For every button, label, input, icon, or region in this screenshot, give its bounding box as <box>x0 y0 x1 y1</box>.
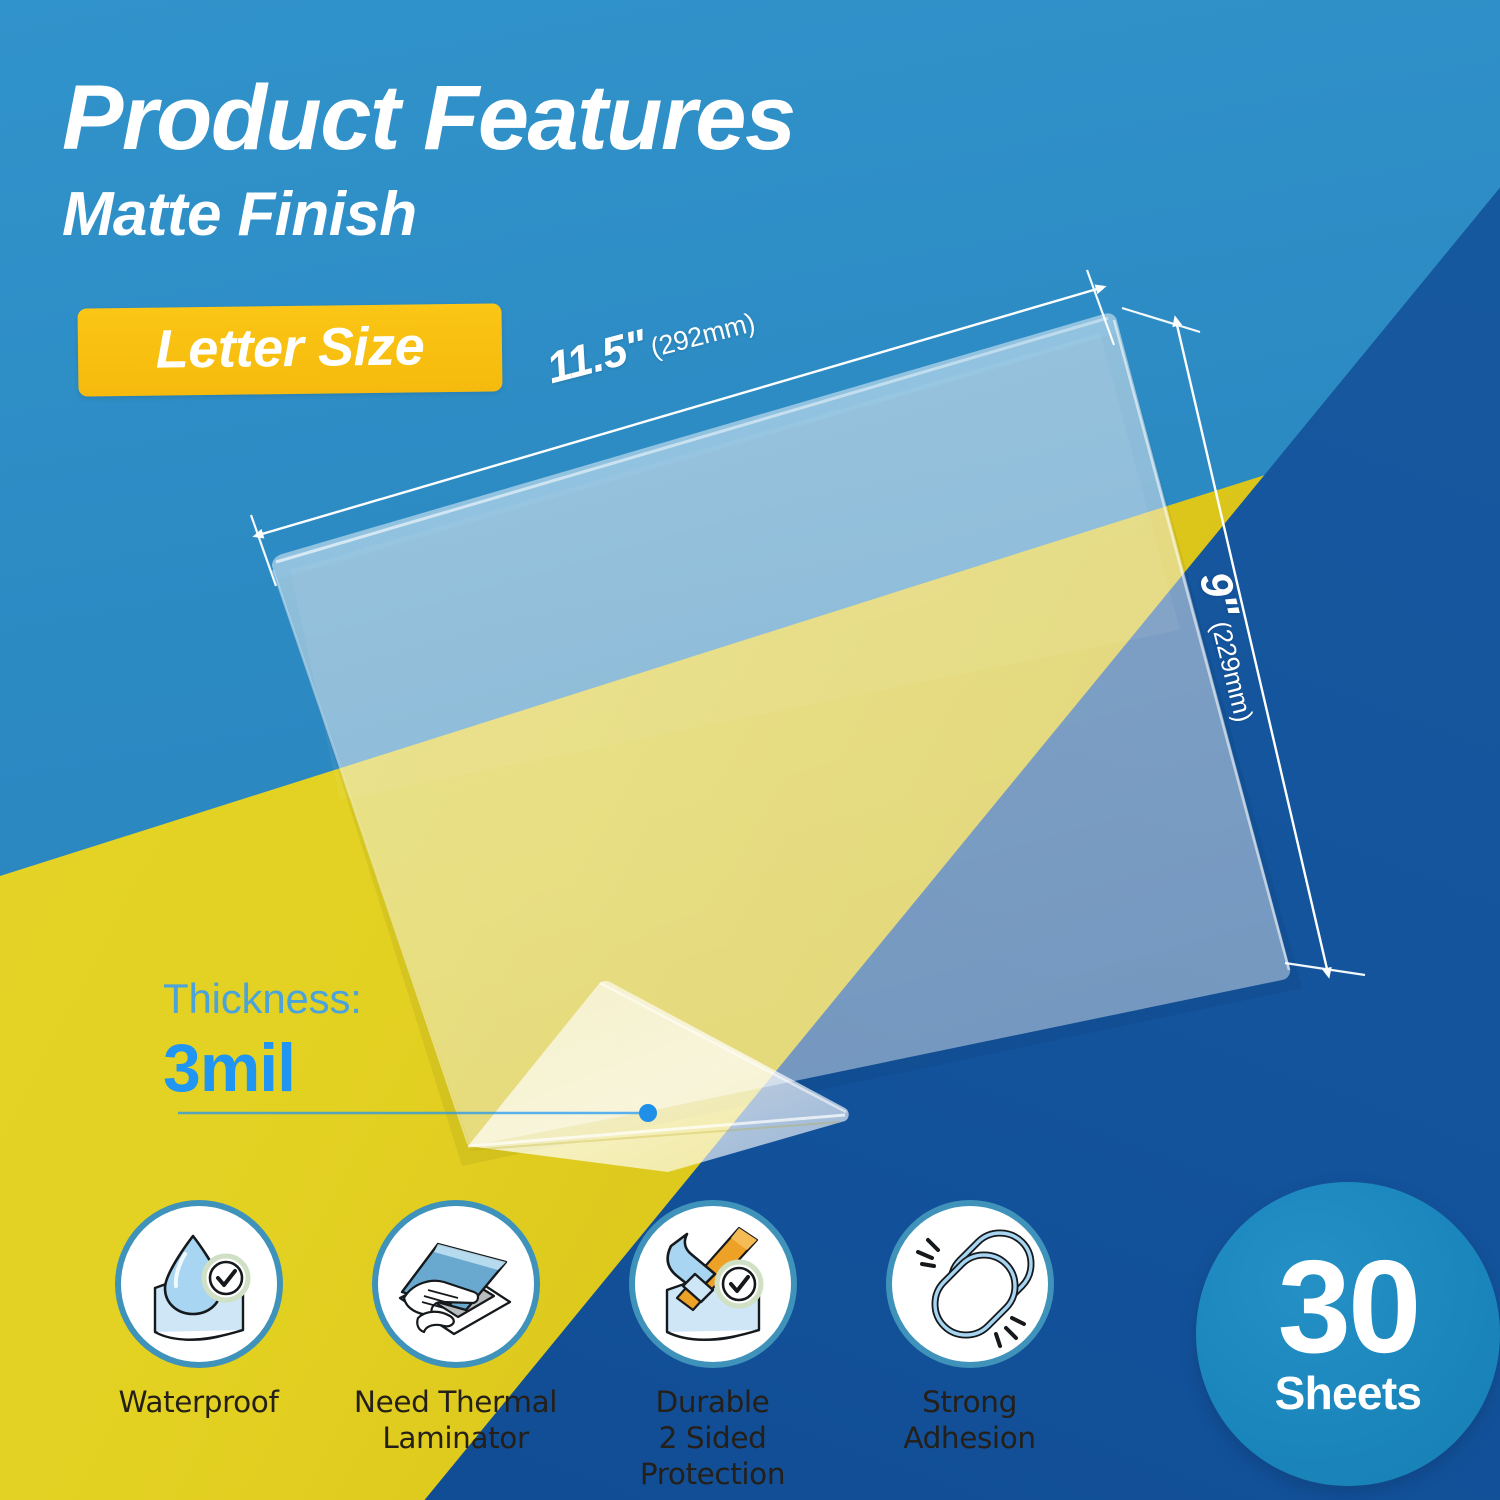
letter-size-badge-label: Letter Size <box>77 303 502 396</box>
feature-label-line: 2 Sided Protection <box>584 1421 841 1493</box>
width-extension-right <box>1087 270 1114 345</box>
feature-list: Waterproof <box>70 1200 1100 1493</box>
height-extension-top <box>1122 308 1200 332</box>
quantity-count: 30 <box>1278 1246 1419 1367</box>
feature-item-durable: Durable 2 Sided Protection <box>584 1200 841 1493</box>
feature-label-durable: Durable 2 Sided Protection <box>584 1385 841 1493</box>
quantity-unit: Sheets <box>1275 1370 1422 1416</box>
thickness-callout: Thickness: 3mil <box>163 978 362 1102</box>
durable-hammer-icon <box>629 1200 797 1368</box>
quantity-badge: 30 Sheets <box>1196 1182 1500 1486</box>
page-subtitle: Matte Finish <box>62 184 1082 246</box>
feature-label-line: Durable <box>584 1385 841 1421</box>
feature-label-line: Adhesion <box>903 1421 1035 1457</box>
thickness-label: Thickness: <box>163 978 362 1020</box>
feature-label-thermal-laminator: Need Thermal Laminator <box>354 1385 557 1457</box>
feature-item-thermal-laminator: Need Thermal Laminator <box>327 1200 584 1457</box>
feature-label-waterproof: Waterproof <box>119 1385 279 1421</box>
feature-label-strong-adhesion: Strong Adhesion <box>903 1385 1035 1457</box>
thermal-laminator-hands-icon <box>372 1200 540 1368</box>
feature-label-line: Laminator <box>354 1421 557 1457</box>
feature-label-line: Need Thermal <box>354 1385 557 1421</box>
width-extension-left <box>251 515 276 586</box>
waterproof-droplet-icon <box>115 1200 283 1368</box>
feature-item-waterproof: Waterproof <box>70 1200 327 1421</box>
thickness-pointer-dot <box>639 1104 657 1122</box>
product-features-infographic: Product Features Matte Finish Letter Siz… <box>0 0 1500 1500</box>
feature-item-strong-adhesion: Strong Adhesion <box>841 1200 1098 1457</box>
letter-size-badge: Letter Size <box>77 303 502 396</box>
feature-label-line: Strong <box>903 1385 1035 1421</box>
headline-block: Product Features Matte Finish <box>62 72 1082 246</box>
page-title: Product Features <box>62 72 1082 164</box>
thickness-value: 3mil <box>163 1034 362 1102</box>
feature-label-line: Waterproof <box>119 1385 279 1421</box>
strong-adhesion-chain-icon <box>886 1200 1054 1368</box>
